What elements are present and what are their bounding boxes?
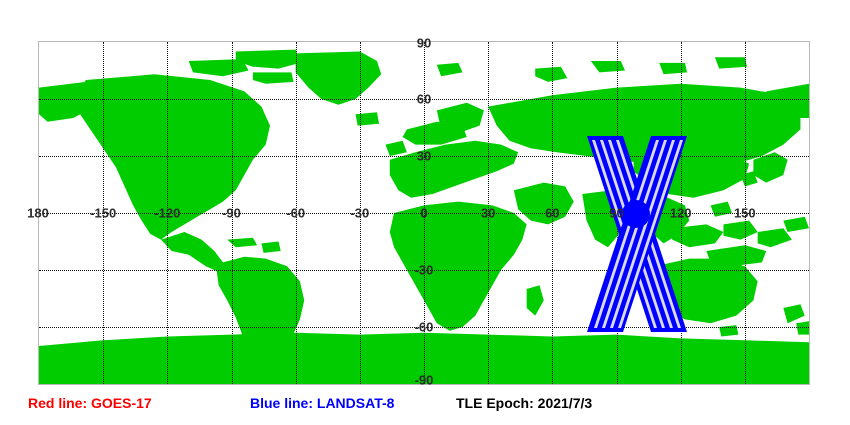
map-canvas [39,42,809,384]
legend-tle-epoch: TLE Epoch: 2021/7/3 [456,395,592,411]
legend-blue-line-landsat8: Blue line: LANDSAT-8 [250,395,394,411]
map-legend: Red line: GOES-17 Blue line: LANDSAT-8 T… [0,392,850,425]
world-landmass [39,42,809,384]
map-plot-area[interactable]: 90 60 30 0 -30 -60 -90 -30 0 30 60 90 12… [38,41,810,385]
satellite-ground-track-map: 90 60 30 0 -30 -60 -90 -30 0 30 60 90 12… [0,0,850,392]
legend-red-line-goes17: Red line: GOES-17 [28,395,152,411]
